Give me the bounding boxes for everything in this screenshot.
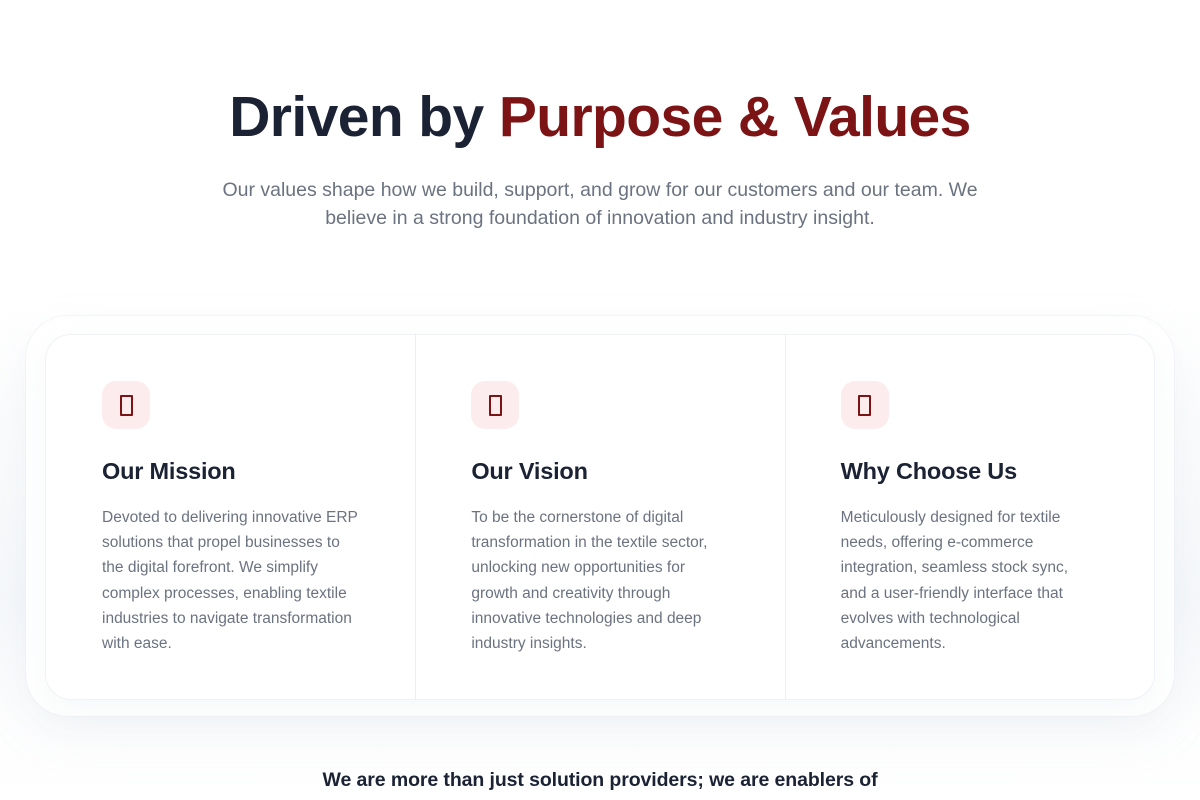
missing-glyph-box-icon: [858, 395, 871, 416]
value-body-mission: Devoted to delivering innovative ERP sol…: [102, 505, 359, 656]
value-column-mission: Our Mission Devoted to delivering innova…: [46, 335, 415, 699]
missing-glyph-box-icon: [489, 395, 502, 416]
values-card: Our Mission Devoted to delivering innova…: [45, 334, 1155, 700]
closing-statement: We are more than just solution providers…: [0, 766, 1200, 794]
why-choose-us-icon-badge: [841, 381, 889, 429]
mission-icon-badge: [102, 381, 150, 429]
page-title-lead: Driven by: [229, 85, 499, 149]
value-body-vision: To be the cornerstone of digital transfo…: [471, 505, 728, 656]
page-subtitle: Our values shape how we build, support, …: [220, 176, 980, 233]
missing-glyph-box-icon: [120, 395, 133, 416]
vision-icon-badge: [471, 381, 519, 429]
value-body-why-choose-us: Meticulously designed for textile needs,…: [841, 505, 1098, 656]
value-column-vision: Our Vision To be the cornerstone of digi…: [415, 335, 784, 699]
page-root: Driven by Purpose & Values Our values sh…: [0, 0, 1200, 800]
value-title-why-choose-us: Why Choose Us: [841, 457, 1098, 485]
value-column-why-choose-us: Why Choose Us Meticulously designed for …: [785, 335, 1154, 699]
page-title-accent: Purpose & Values: [499, 85, 971, 149]
value-title-mission: Our Mission: [102, 457, 359, 485]
value-title-vision: Our Vision: [471, 457, 728, 485]
hero-section: Driven by Purpose & Values Our values sh…: [0, 0, 1200, 233]
page-title: Driven by Purpose & Values: [0, 86, 1200, 150]
